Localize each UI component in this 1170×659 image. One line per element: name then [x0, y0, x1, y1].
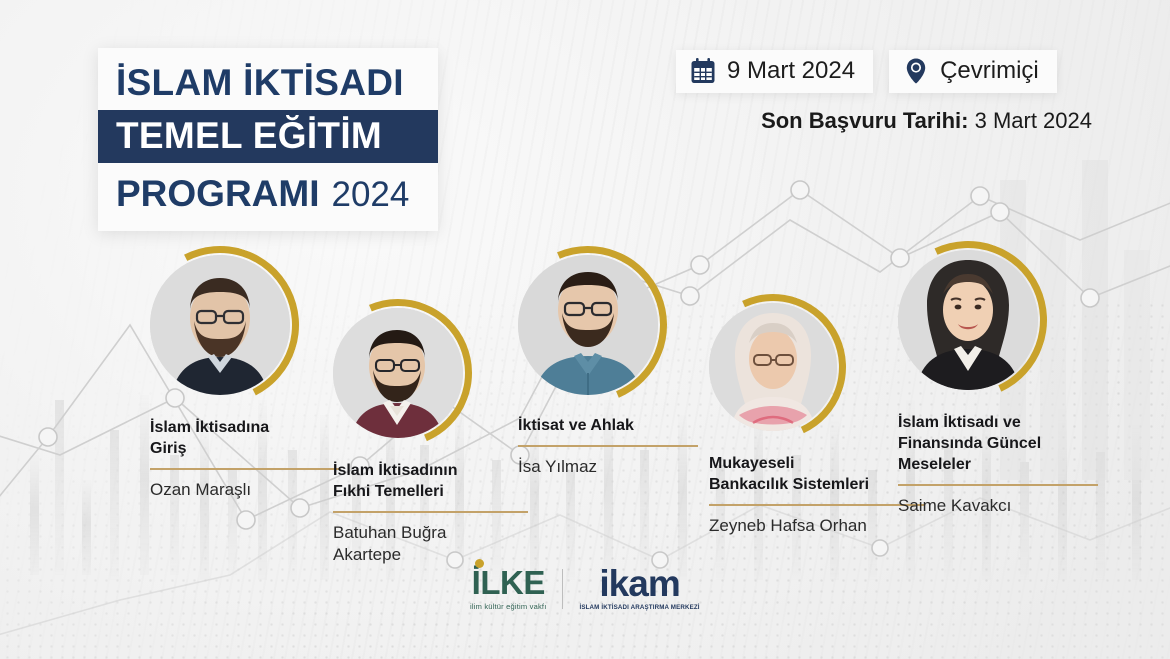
- title-line-1: İSLAM İKTİSADI: [98, 60, 438, 108]
- speaker-name: Saime Kavakcı: [898, 495, 1098, 517]
- ilke-logo-wordmark: İLKE: [472, 564, 545, 601]
- page-title: İSLAM İKTİSADI TEMEL EĞİTİM PROGRAMI 202…: [98, 48, 438, 231]
- gold-rule: [333, 511, 528, 513]
- speaker-course-title: İslam İktisadı ve Finansında Güncel Mese…: [898, 412, 1098, 475]
- deadline-value: 3 Mart 2024: [975, 108, 1092, 133]
- gold-rule: [898, 484, 1098, 486]
- speaker-name: İsa Yılmaz: [518, 456, 698, 478]
- date-chip: 9 Mart 2024: [676, 50, 873, 93]
- title-line-3-row: PROGRAMI 2024: [98, 163, 438, 217]
- ikam-logo-wordmark: ikam: [599, 566, 679, 601]
- speaker-name: Batuhan Buğra Akartepe: [333, 522, 528, 566]
- location-chip-text: Çevrimiçi: [940, 57, 1039, 85]
- title-line-2: TEMEL EĞİTİM: [116, 117, 438, 155]
- speaker-course-title: İktisat ve Ahlak: [518, 415, 698, 436]
- ilke-logo-mark: İLKE: [472, 566, 545, 599]
- calendar-icon: [690, 57, 716, 85]
- speaker-card-saime-kavakci: İslam İktisadı ve Finansında Güncel Mese…: [898, 250, 1098, 517]
- speaker-info: Mukayeseli Bankacılık Sistemleri Zeyneb …: [709, 453, 924, 537]
- speaker-card-batuhan-bugra-akartepe: İslam İktisadının Fıkhi Temelleri Batuha…: [333, 308, 528, 566]
- speaker-info: İslam İktisadına Giriş Ozan Maraşlı: [150, 417, 340, 501]
- ilke-logo-dot-icon: [475, 559, 484, 568]
- speaker-info: İslam İktisadının Fıkhi Temelleri Batuha…: [333, 460, 528, 566]
- sponsor-logos: İLKE ilim kültür eğitim vakfı ikam İSLAM…: [470, 566, 700, 611]
- gold-rule: [709, 504, 924, 506]
- location-chip: Çevrimiçi: [889, 50, 1057, 93]
- speaker-photo: [709, 303, 837, 431]
- logo-divider: [562, 569, 563, 609]
- speaker-photo: [518, 255, 658, 395]
- speaker-course-title: Mukayeseli Bankacılık Sistemleri: [709, 453, 924, 495]
- speaker-photo-wrap: [150, 255, 290, 395]
- speaker-info: İslam İktisadı ve Finansında Güncel Mese…: [898, 412, 1098, 517]
- ilke-logo-tagline: ilim kültür eğitim vakfı: [470, 602, 546, 611]
- title-line-2-band: TEMEL EĞİTİM: [98, 110, 438, 164]
- speaker-name: Zeyneb Hafsa Orhan: [709, 515, 924, 537]
- title-line-3: PROGRAMI: [116, 173, 320, 215]
- ikam-logo-tagline: İSLAM İKTİSADI ARAŞTIRMA MERKEZİ: [579, 604, 699, 611]
- title-year: 2024: [332, 175, 410, 215]
- speaker-photo: [898, 250, 1038, 390]
- event-meta-row: 9 Mart 2024 Çevrimiçi: [676, 50, 1057, 93]
- speaker-course-title: İslam İktisadına Giriş: [150, 417, 340, 459]
- speaker-card-isa-yilmaz: İktisat ve Ahlak İsa Yılmaz: [518, 255, 698, 478]
- speaker-photo: [333, 308, 463, 438]
- gold-rule: [518, 445, 698, 447]
- speaker-photo: [150, 255, 290, 395]
- speaker-photo-wrap: [709, 303, 837, 431]
- event-poster: İSLAM İKTİSADI TEMEL EĞİTİM PROGRAMI 202…: [0, 0, 1170, 659]
- speaker-course-title: İslam İktisadının Fıkhi Temelleri: [333, 460, 528, 502]
- date-chip-text: 9 Mart 2024: [727, 57, 855, 85]
- application-deadline: Son Başvuru Tarihi: 3 Mart 2024: [761, 108, 1092, 134]
- map-pin-icon: [903, 57, 929, 85]
- speaker-photo-wrap: [518, 255, 658, 395]
- speaker-info: İktisat ve Ahlak İsa Yılmaz: [518, 415, 698, 478]
- speaker-photo-wrap: [333, 308, 463, 438]
- speaker-name: Ozan Maraşlı: [150, 479, 340, 501]
- gold-rule: [150, 468, 340, 470]
- ilke-logo: İLKE ilim kültür eğitim vakfı: [470, 566, 546, 611]
- speaker-photo-wrap: [898, 250, 1038, 390]
- deadline-label: Son Başvuru Tarihi:: [761, 108, 968, 133]
- ikam-logo: ikam İSLAM İKTİSADI ARAŞTIRMA MERKEZİ: [579, 566, 699, 611]
- speaker-card-ozan-marasli: İslam İktisadına Giriş Ozan Maraşlı: [150, 255, 340, 501]
